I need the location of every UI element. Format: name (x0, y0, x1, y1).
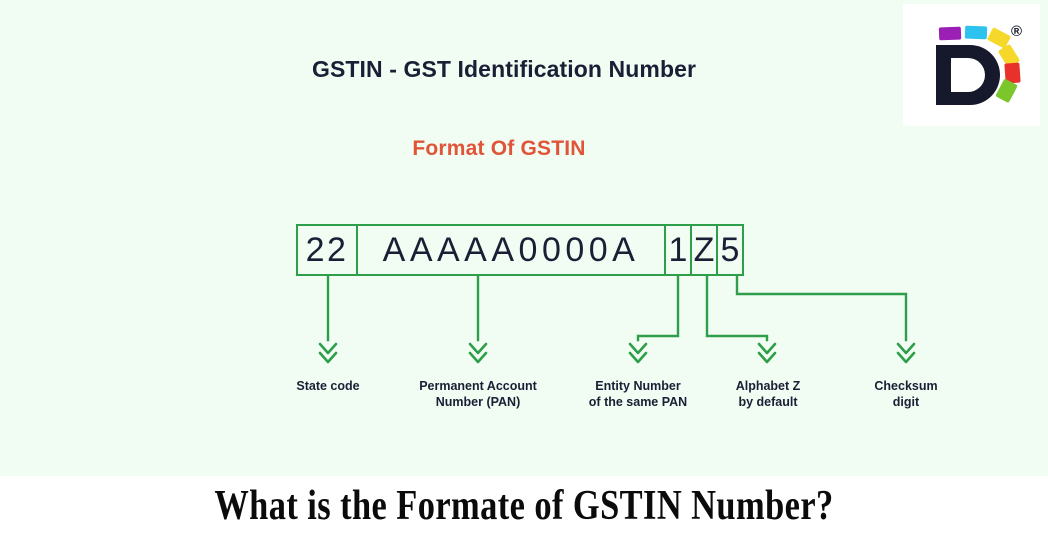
label-entity-number-line2: of the same PAN (563, 394, 713, 410)
label-alphabet-z-line2: by default (693, 394, 843, 410)
label-pan: Permanent Account Number (PAN) (403, 378, 553, 410)
infographic-page: ® GSTIN - GST Identification Number Form… (0, 0, 1048, 560)
gstin-segment-check: 5 (716, 224, 744, 276)
page-title-text: GSTIN - GST Identification Number (312, 56, 696, 83)
gstin-segment-state: 22 (296, 224, 358, 276)
caption-text: What is the Formate of GSTIN Number? (94, 482, 953, 530)
registered-trademark-icon: ® (1011, 23, 1022, 40)
label-checksum-digit-line2: digit (836, 394, 976, 410)
label-alphabet-z-line1: Alphabet Z (693, 378, 843, 394)
label-checksum-digit: Checksum digit (836, 378, 976, 410)
label-pan-line2: Number (PAN) (403, 394, 553, 410)
gstin-segment-alpha: Z (690, 224, 718, 276)
label-state-code-line1: State code (258, 378, 398, 394)
gstin-segment-pan: AAAAA0000A (356, 224, 666, 276)
page-subtitle-text: Format Of GSTIN (412, 137, 585, 161)
label-alphabet-z: Alphabet Z by default (693, 378, 843, 410)
gstin-segment-row: 22 AAAAA0000A 1 Z 5 (296, 224, 744, 276)
gstin-segment-entity: 1 (664, 224, 692, 276)
label-pan-line1: Permanent Account (403, 378, 553, 394)
label-entity-number: Entity Number of the same PAN (563, 378, 713, 410)
label-entity-number-line1: Entity Number (563, 378, 713, 394)
label-checksum-digit-line1: Checksum (836, 378, 976, 394)
page-subtitle: Format Of GSTIN (0, 137, 1048, 161)
caption-bar: What is the Formate of GSTIN Number? (0, 476, 1048, 560)
label-state-code: State code (258, 378, 398, 394)
page-title: GSTIN - GST Identification Number (0, 56, 1048, 83)
